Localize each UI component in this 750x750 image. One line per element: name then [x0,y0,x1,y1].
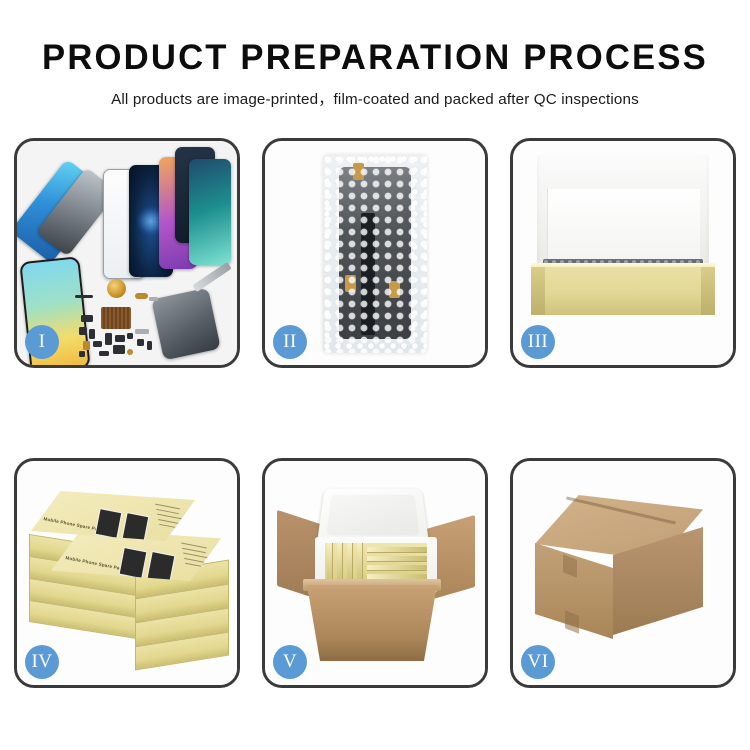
process-step-6[interactable]: VI [510,458,736,688]
step-badge-1: I [25,325,59,359]
step-badge-5: V [273,645,307,679]
page-header: PRODUCT PREPARATION PROCESS All products… [0,0,750,130]
page-title: PRODUCT PREPARATION PROCESS [4,0,747,77]
adhesive-tab-top [353,163,364,180]
teal-display-phone [189,159,231,265]
spare-parts-cluster [79,289,169,361]
process-step-4[interactable]: Mobile Phone Spare Parts Mobile Phone Sp… [14,458,240,688]
bubble-wrap-bag [323,155,427,353]
process-step-2[interactable]: II [262,138,488,368]
foam-box-lid [317,488,429,543]
carton-body [307,585,437,661]
box-corner-right [701,267,715,315]
box-label-2: Mobile Phone Spare Parts [65,555,126,572]
adhesive-tab-left [345,275,356,292]
step-badge-6: VI [521,645,555,679]
step-badge-2: II [273,325,307,359]
printed-box-lid-1: Mobile Phone Spare Parts [31,491,195,541]
flex-cable [361,213,375,335]
step-badge-3: III [521,325,555,359]
process-step-3[interactable]: III [510,138,736,368]
process-step-1[interactable]: I [14,138,240,368]
step-badge-4: IV [25,645,59,679]
process-step-5[interactable]: V [262,458,488,688]
foam-lid-face [547,189,700,261]
wrapped-screen [339,167,411,339]
box-corner-left [531,267,545,315]
yellow-box-tray [531,267,715,315]
page-subtitle: All products are image-printed，film-coat… [0,77,750,109]
box-stack: Mobile Phone Spare Parts Mobile Phone Sp… [23,471,231,671]
process-step-grid: I II III [14,138,736,688]
adhesive-tab-right [389,281,400,298]
